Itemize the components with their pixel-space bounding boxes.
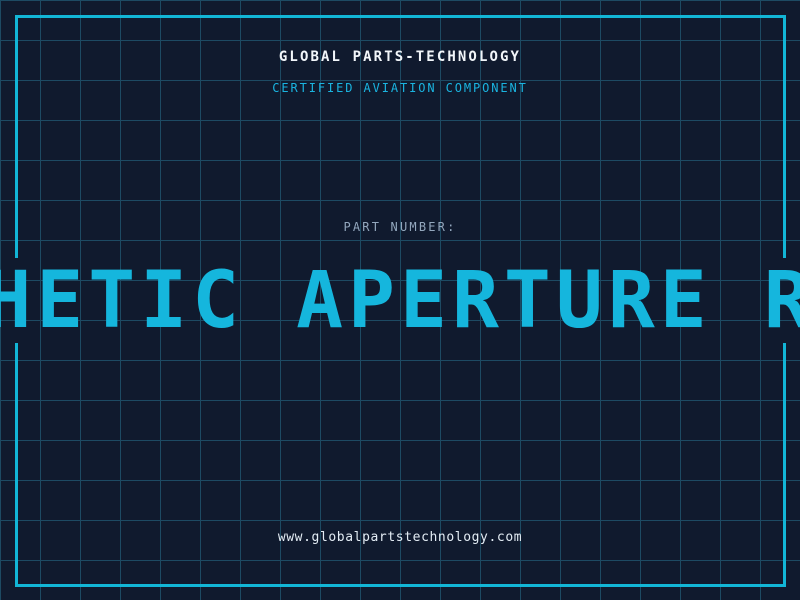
part-number-value-container: SYNTHETIC APERTURE RADAR [0,258,800,344]
part-number-label: PART NUMBER: [0,220,800,234]
brand-title: GLOBAL PARTS-TECHNOLOGY [0,49,800,65]
part-label-card: GLOBAL PARTS-TECHNOLOGY CERTIFIED AVIATI… [0,0,800,600]
frame-border-bottom [15,584,786,587]
certification-subtitle: CERTIFIED AVIATION COMPONENT [0,81,800,95]
frame-border-right-lower [783,343,786,587]
frame-border-left-lower [15,343,18,587]
part-number-value: SYNTHETIC APERTURE RADAR [0,258,800,344]
website-url: www.globalpartstechnology.com [0,530,800,545]
frame-border-top [15,15,786,18]
